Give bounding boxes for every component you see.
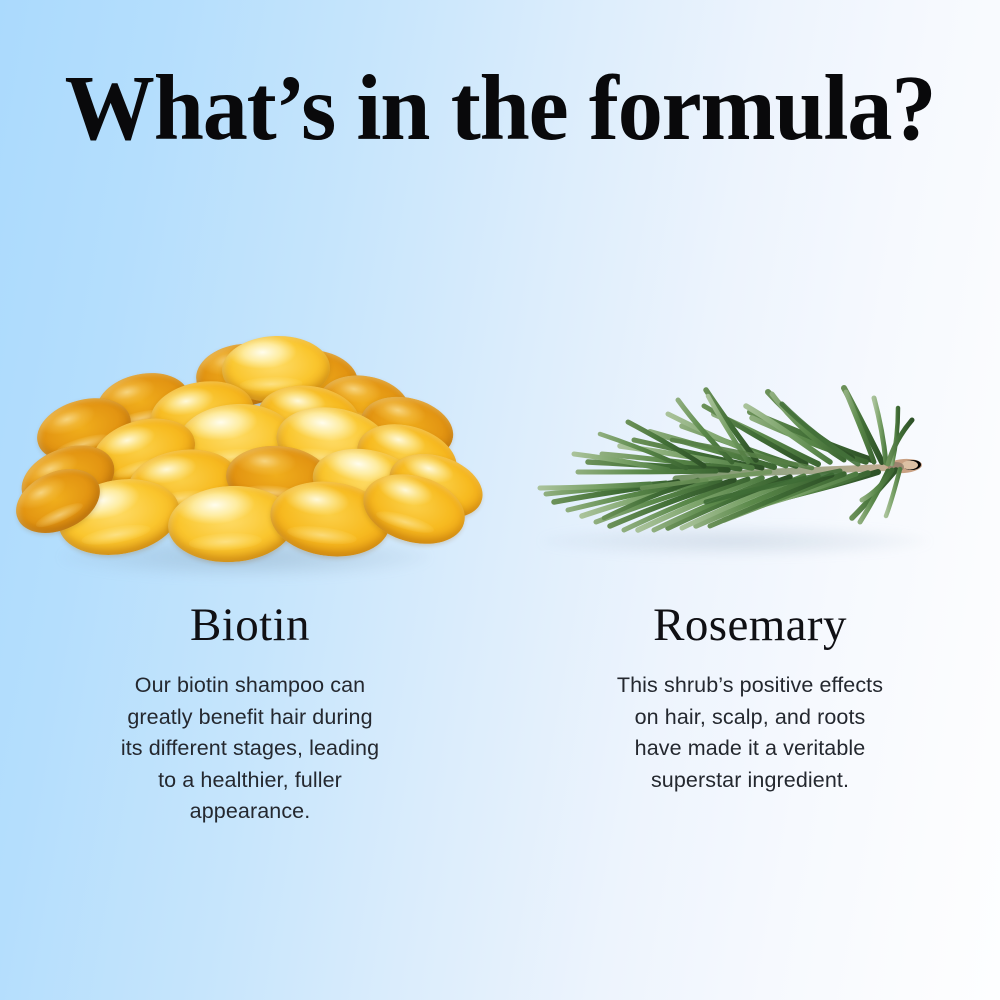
ingredient-description-biotin: Our biotin shampoo can greatly benefit h… — [85, 670, 415, 828]
ingredient-name-rosemary: Rosemary — [500, 602, 1000, 649]
page-title: What’s in the formula? — [15, 62, 985, 155]
ingredient-card-biotin: Biotin Our biotin shampoo can greatly be… — [0, 330, 500, 890]
ingredient-columns: Biotin Our biotin shampoo can greatly be… — [0, 330, 1000, 890]
rosemary-art — [500, 330, 1000, 598]
ingredient-name-biotin: Biotin — [0, 602, 500, 649]
biotin-softgel-capsules-image — [0, 330, 500, 598]
biotin-art — [0, 330, 500, 598]
rosemary-sprig-image — [500, 330, 1000, 598]
rosemary-sprig-svg — [500, 330, 1000, 598]
ingredient-infographic-page: What’s in the formula? — [0, 0, 1000, 1000]
ingredient-description-rosemary: This shrub’s positive effects on hair, s… — [577, 670, 923, 796]
ingredient-card-rosemary: Rosemary This shrub’s positive effects o… — [500, 330, 1000, 890]
